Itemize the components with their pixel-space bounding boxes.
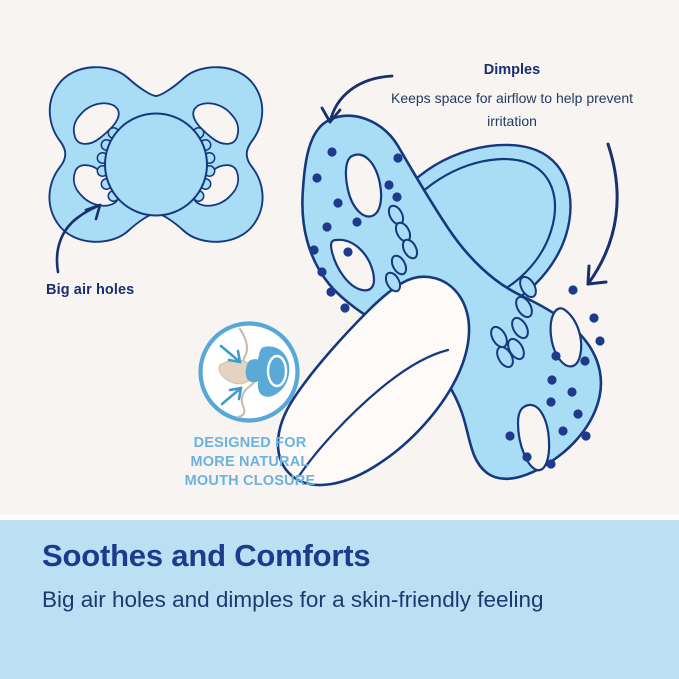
caption-band: Soothes and Comforts Big air holes and d… — [0, 520, 679, 679]
band-subheading: Big air holes and dimples for a skin-fri… — [42, 583, 642, 618]
small-pacifier-center-circle — [105, 114, 207, 216]
caption-band-content: Soothes and Comforts Big air holes and d… — [42, 538, 642, 617]
hero-illustration-panel: Big air holes Dimples Keeps space for ai… — [0, 0, 679, 515]
band-heading: Soothes and Comforts — [42, 538, 642, 575]
annotation-dimples-title: Dimples — [372, 62, 652, 78]
annotation-big-air-holes: Big air holes — [46, 282, 134, 298]
badge-caption-line-3: MOUTH CLOSURE — [166, 472, 334, 491]
large-pacifier — [278, 116, 605, 485]
badge-caption-line-2: MORE NATURAL — [166, 453, 334, 472]
badge-caption-line-1: DESIGNED FOR — [166, 434, 334, 453]
dimples-arrow-right — [588, 144, 617, 284]
mouth-closure-badge — [201, 324, 298, 421]
annotation-dimples-body: Keeps space for airflow to help prevent … — [367, 87, 657, 132]
product-infographic: Big air holes Dimples Keeps space for ai… — [0, 0, 679, 679]
badge-caption: DESIGNED FOR MORE NATURAL MOUTH CLOSURE — [166, 434, 334, 491]
